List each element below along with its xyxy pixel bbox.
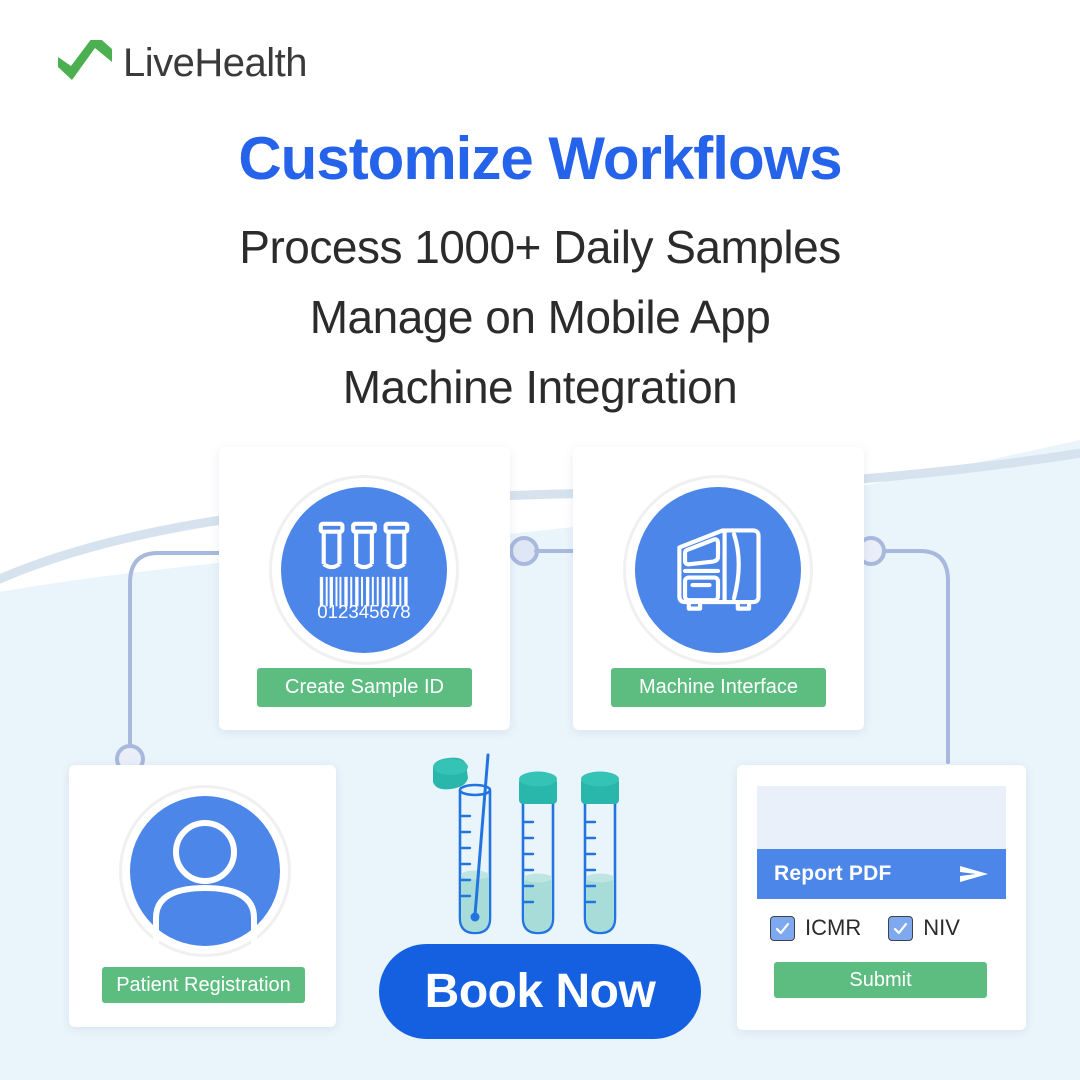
tube-cap-open bbox=[433, 758, 468, 790]
card-machine-interface[interactable]: Machine Interface bbox=[573, 447, 864, 730]
brand-logo: LiveHealth bbox=[55, 40, 307, 86]
machine-interface-button[interactable]: Machine Interface bbox=[611, 668, 826, 707]
subheadings: Process 1000+ Daily Samples Manage on Mo… bbox=[0, 212, 1080, 422]
page-title: Customize Workflows bbox=[0, 126, 1080, 192]
book-now-button[interactable]: Book Now bbox=[379, 944, 701, 1039]
brand-name: LiveHealth bbox=[123, 43, 307, 83]
card-report-pdf[interactable]: Report PDF ICMR NIV bbox=[737, 765, 1026, 1030]
check-icon bbox=[892, 920, 909, 937]
sample-tubes-barcode-icon: 012345678 bbox=[281, 487, 447, 653]
test-tubes-icon bbox=[430, 750, 650, 945]
checkbox-label-icmr: ICMR bbox=[805, 915, 861, 941]
checkbox-icmr[interactable] bbox=[770, 916, 795, 941]
send-arrow-icon[interactable] bbox=[959, 863, 989, 885]
checkbox-item-niv[interactable]: NIV bbox=[888, 915, 960, 941]
checkbox-item-icmr[interactable]: ICMR bbox=[770, 915, 861, 941]
subheading-line-2: Manage on Mobile App bbox=[0, 282, 1080, 352]
green-checkmark-icon bbox=[55, 40, 117, 86]
submit-button[interactable]: Submit bbox=[774, 962, 987, 998]
report-checkbox-group: ICMR NIV bbox=[770, 915, 1010, 941]
patient-registration-button[interactable]: Patient Registration bbox=[102, 967, 305, 1003]
subheading-line-3: Machine Integration bbox=[0, 352, 1080, 422]
lab-analyzer-machine-icon bbox=[635, 487, 801, 653]
card-create-sample-id[interactable]: 012345678 Create Sample ID bbox=[219, 447, 510, 730]
tube-cap bbox=[519, 772, 557, 805]
report-preview-area bbox=[757, 786, 1006, 851]
tube-cap bbox=[581, 772, 619, 805]
report-pdf-title: Report PDF bbox=[774, 862, 892, 886]
create-sample-id-button[interactable]: Create Sample ID bbox=[257, 668, 472, 707]
report-pdf-header[interactable]: Report PDF bbox=[757, 849, 1006, 899]
card-patient-registration[interactable]: Patient Registration bbox=[69, 765, 336, 1027]
checkbox-niv[interactable] bbox=[888, 916, 913, 941]
check-icon bbox=[774, 920, 791, 937]
promo-poster: LiveHealth Customize Workflows Process 1… bbox=[0, 0, 1080, 1080]
user-avatar-icon bbox=[130, 796, 280, 946]
subheading-line-1: Process 1000+ Daily Samples bbox=[0, 212, 1080, 282]
barcode-number: 012345678 bbox=[317, 601, 410, 622]
checkbox-label-niv: NIV bbox=[923, 915, 960, 941]
